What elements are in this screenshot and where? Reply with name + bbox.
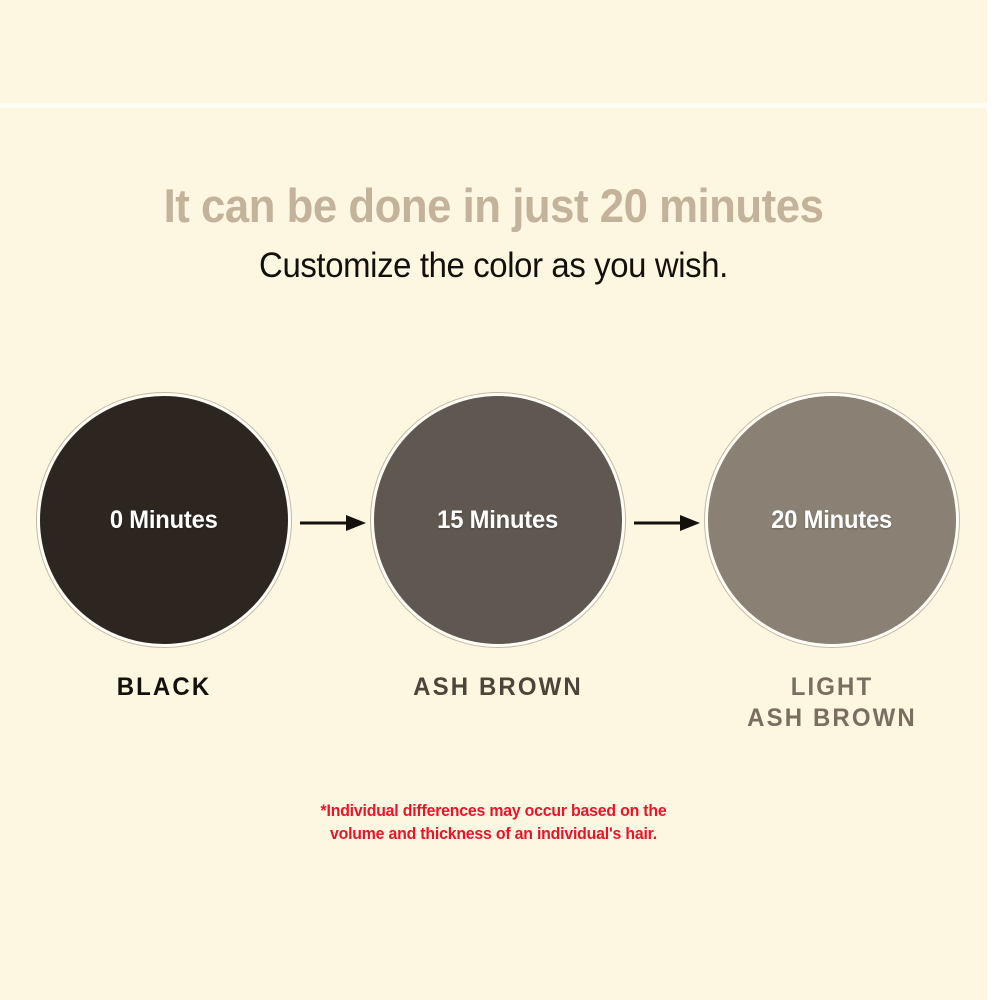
swatch-name: LIGHT ASH BROWN [710, 672, 954, 734]
color-disc: 15 Minutes [371, 393, 625, 647]
swatch-ash-brown: 15 Minutes ASH BROWN [371, 393, 625, 703]
disc-time-label: 0 Minutes [110, 506, 218, 535]
arrow-right-icon [634, 513, 700, 533]
page-subtitle: Customize the color as you wish. [30, 246, 958, 286]
right-edge-strip [987, 0, 1000, 1000]
disc-time-label: 15 Minutes [438, 506, 559, 535]
color-disc: 0 Minutes [37, 393, 291, 647]
swatch-black: 0 Minutes BLACK [37, 393, 291, 703]
top-divider [0, 103, 1000, 108]
promo-poster: It can be done in just 20 minutes Custom… [0, 0, 1000, 1000]
color-swatch-row: 0 Minutes BLACK 15 Minutes ASH BROWN 20 … [0, 393, 987, 743]
disclaimer-text: *Individual differences may occur based … [20, 800, 968, 846]
swatch-disc-wrap: 15 Minutes [371, 393, 625, 647]
page-title: It can be done in just 20 minutes [35, 178, 953, 233]
swatch-disc-wrap: 20 Minutes [705, 393, 959, 647]
disc-time-label: 20 Minutes [772, 506, 893, 535]
swatch-light-ash-brown: 20 Minutes LIGHT ASH BROWN [705, 393, 959, 734]
color-disc: 20 Minutes [705, 393, 959, 647]
arrow-right-icon [300, 513, 366, 533]
swatch-disc-wrap: 0 Minutes [37, 393, 291, 647]
swatch-name: ASH BROWN [376, 672, 620, 703]
swatch-name: BLACK [42, 672, 286, 703]
